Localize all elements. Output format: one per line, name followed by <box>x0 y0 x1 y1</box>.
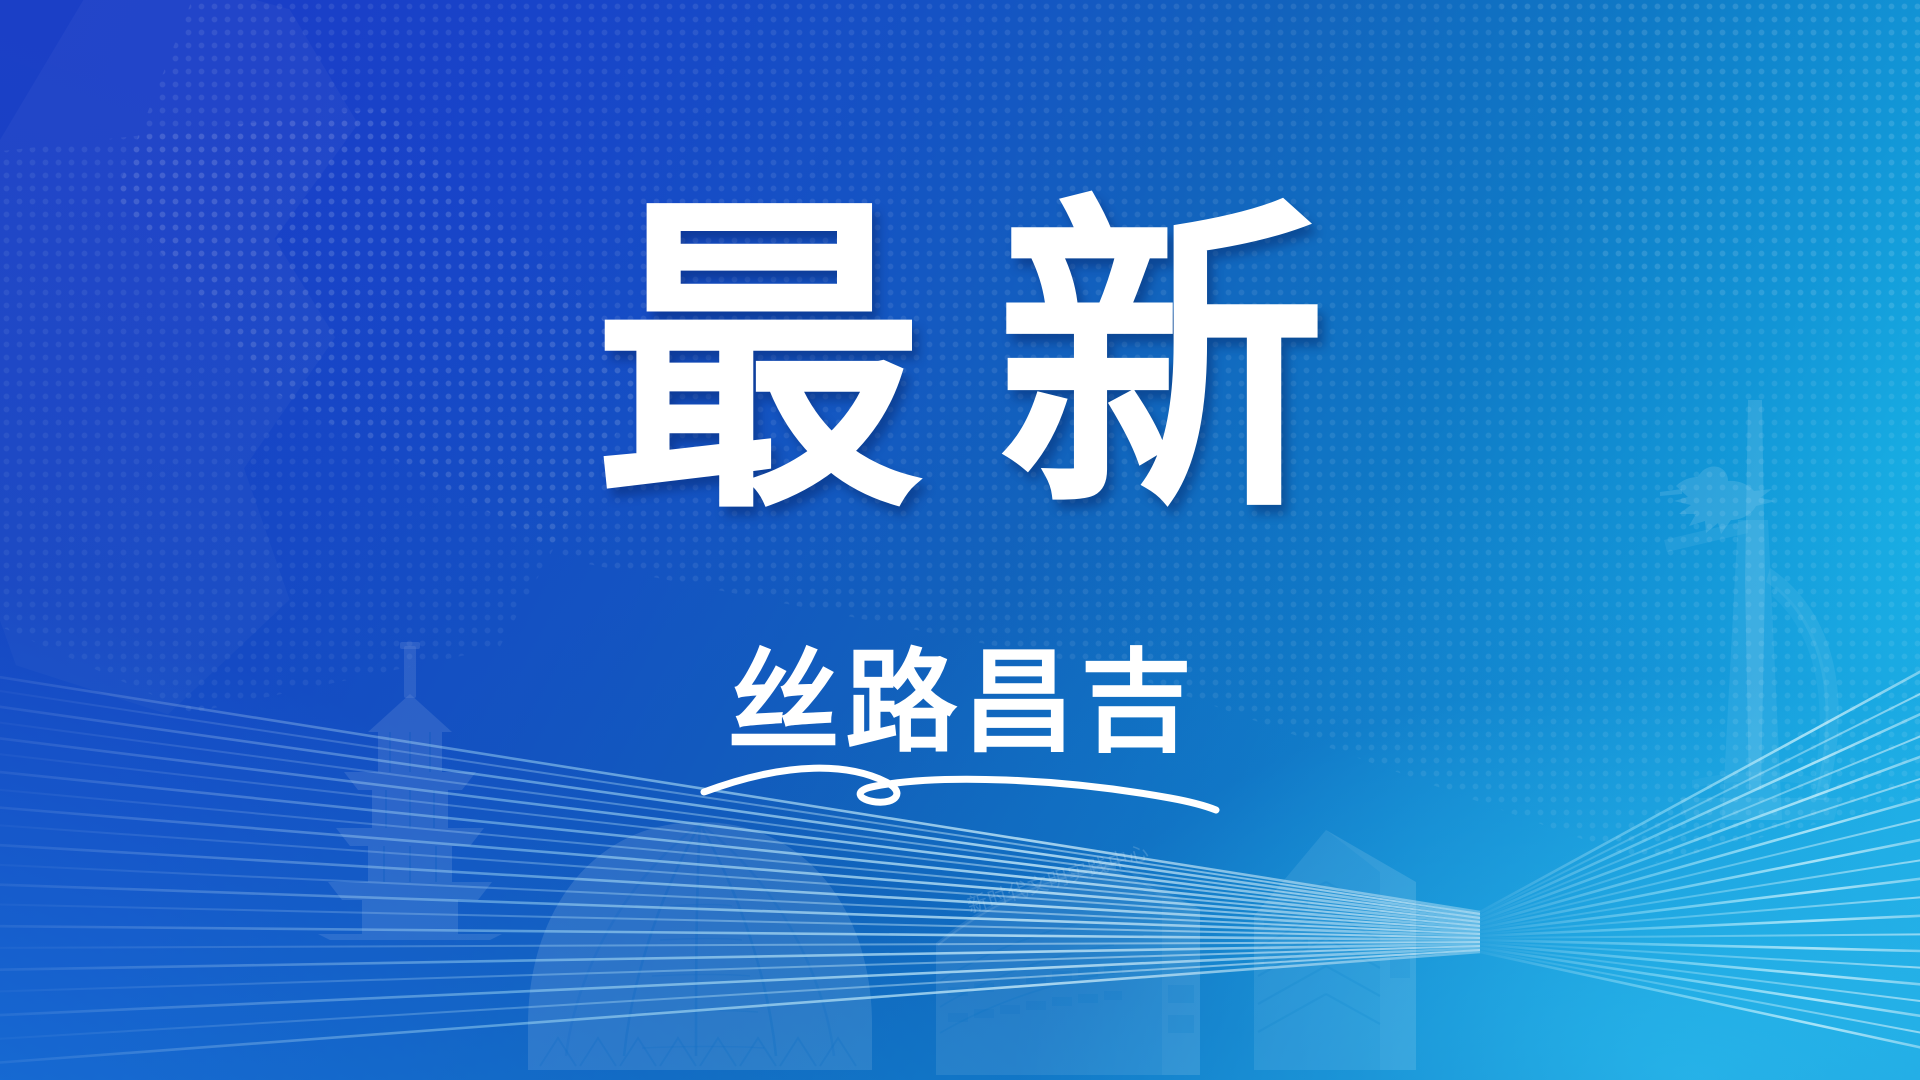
page-title: 最新 <box>0 196 1920 526</box>
brand-wordmark: 丝路昌吉 <box>700 648 1220 760</box>
tiered-office-building-icon <box>1230 820 1440 1080</box>
civic-center-building-icon: 新时代文明实践中心 <box>900 835 1240 1080</box>
pagoda-silhouette-icon <box>300 640 520 940</box>
brand-logo: 丝路昌吉 <box>700 648 1220 816</box>
civic-center-signage: 新时代文明实践中心 <box>965 841 1152 918</box>
dome-building-silhouette-icon <box>520 810 880 1080</box>
poster-canvas: 新时代文明实践中心 <box>0 0 1920 1080</box>
